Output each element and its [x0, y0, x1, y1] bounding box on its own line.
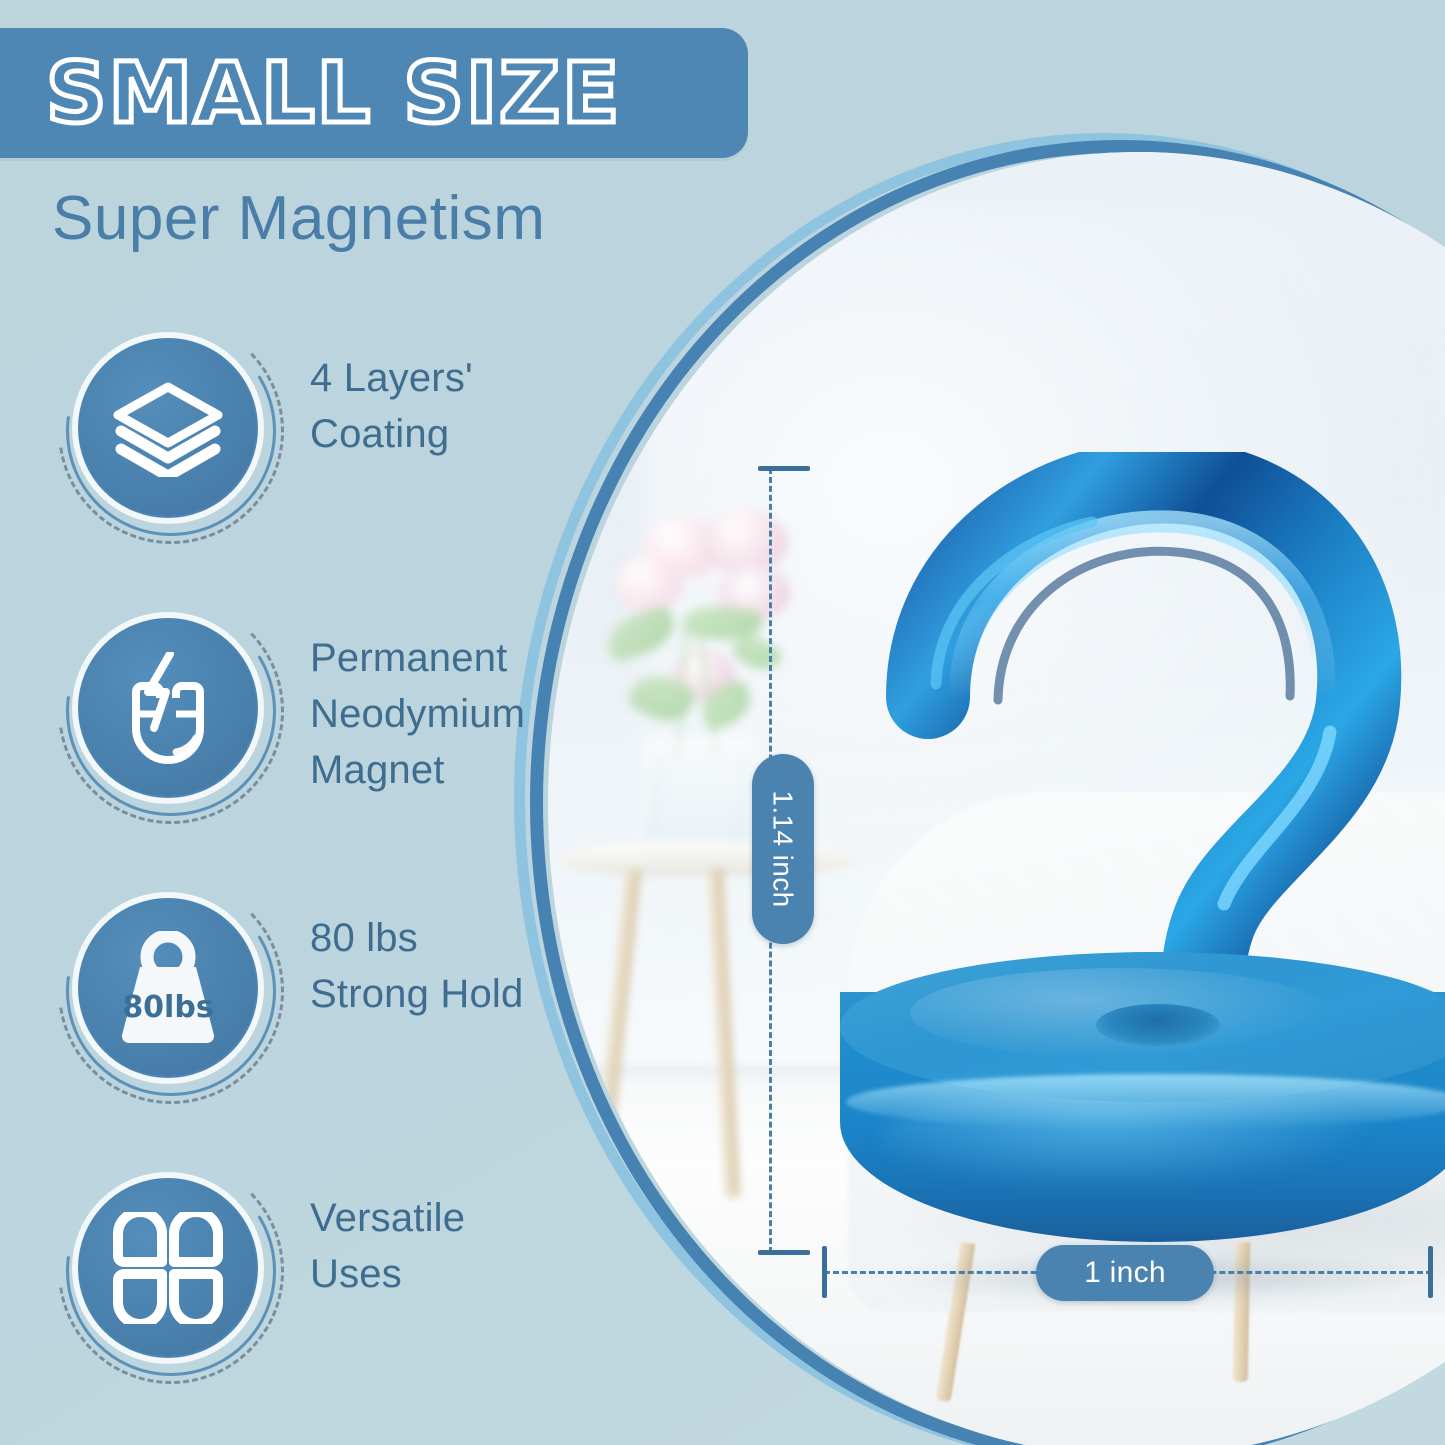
flower-petal [700, 510, 788, 574]
table-leg [707, 868, 740, 1198]
width-dimension-cap-right [1428, 1246, 1433, 1298]
feature-label-line: Uses [310, 1250, 465, 1298]
product-magnetic-hook [810, 452, 1445, 1282]
flower-petal [616, 556, 682, 612]
feature-label-line: Magnet [310, 746, 525, 794]
feature-label-line: Strong Hold [310, 970, 523, 1018]
feature-badge [72, 332, 264, 524]
page-subtitle: Super Magnetism [52, 183, 545, 254]
feature-badge [72, 1172, 264, 1364]
feature-label: Versatile Uses [310, 1194, 465, 1306]
feature-badge [72, 612, 264, 804]
layers-icon [113, 379, 223, 477]
header-banner: SMALL SIZE [0, 28, 748, 158]
height-dimension-cap-top [758, 466, 810, 471]
product-photo-panel [548, 152, 1445, 1445]
feature-label-line: Versatile [310, 1194, 465, 1242]
badge-core: 80lbs [80, 900, 256, 1076]
weight-icon-label: 80lbs [122, 990, 213, 1025]
height-dimension-cap-bottom [758, 1250, 810, 1255]
magnet-disc [840, 952, 1445, 1282]
feature-item-strong-hold: 80lbs 80 lbs Strong Hold [0, 876, 560, 1156]
four-petal-icon [112, 1212, 224, 1324]
feature-list: 4 Layers' Coating [0, 316, 560, 1436]
badge-core [80, 1180, 256, 1356]
feature-item-coating: 4 Layers' Coating [0, 316, 560, 596]
width-dimension-cap-left [822, 1246, 827, 1298]
table-leg [594, 868, 641, 1168]
height-dimension-value: 1.14 inch [767, 790, 799, 907]
magnet-rim-highlight [846, 1074, 1445, 1130]
flower-leaf [602, 604, 681, 664]
feature-label: 4 Layers' Coating [310, 354, 473, 466]
badge-core [80, 620, 256, 796]
feature-item-neodymium: Permanent Neodymium Magnet [0, 596, 560, 876]
magnet-center-hole [1096, 1004, 1220, 1046]
feature-item-versatile: Versatile Uses [0, 1156, 560, 1436]
feature-label-line: 4 Layers' [310, 354, 473, 402]
width-dimension-value: 1 inch [1084, 1256, 1166, 1290]
height-dimension-label: 1.14 inch [752, 754, 814, 944]
feature-label-line: Neodymium [310, 690, 525, 738]
page-title: SMALL SIZE [46, 51, 621, 135]
feature-badge: 80lbs [72, 892, 264, 1084]
badge-core [80, 340, 256, 516]
feature-label: Permanent Neodymium Magnet [310, 634, 525, 802]
width-dimension-label: 1 inch [1036, 1245, 1214, 1301]
feature-label: 80 lbs Strong Hold [310, 914, 523, 1026]
feature-label-line: Permanent [310, 634, 525, 682]
feature-label-line: 80 lbs [310, 914, 523, 962]
weight-icon: 80lbs [110, 931, 226, 1045]
feature-label-line: Coating [310, 410, 473, 458]
magnet-icon [114, 652, 222, 764]
infographic-page: 1.14 inch 1 inch SMALL SIZE Super Magnet… [0, 0, 1445, 1445]
